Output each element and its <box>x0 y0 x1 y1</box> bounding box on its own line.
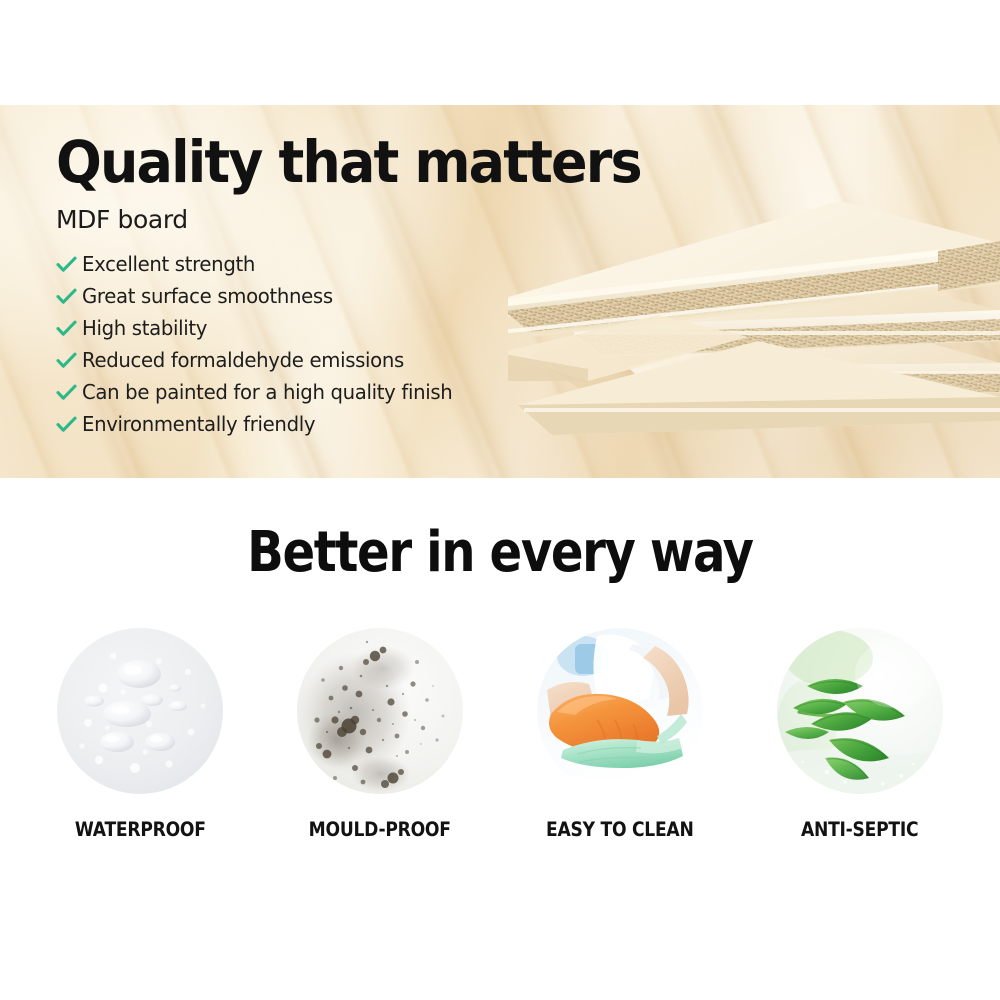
feature-label: MOULD-PROOF <box>309 818 451 841</box>
easy-to-clean-image <box>537 628 703 794</box>
product-marketing-image: Quality that matters MDF board Excellent… <box>0 0 1000 1000</box>
check-icon <box>56 320 82 337</box>
list-item-label: Reduced formaldehyde emissions <box>82 348 404 372</box>
check-icon <box>56 384 82 401</box>
check-icon <box>56 352 82 369</box>
list-item: Can be painted for a high quality finish <box>56 377 696 407</box>
feature-easy-to-clean: EASY TO CLEAN <box>509 628 731 841</box>
list-item-label: High stability <box>82 316 207 340</box>
list-item-label: Excellent strength <box>82 252 255 276</box>
hero-wood-panel: Quality that matters MDF board Excellent… <box>0 105 1000 478</box>
hero-subtitle: MDF board <box>56 205 696 234</box>
feature-label: ANTI-SEPTIC <box>801 818 918 841</box>
list-item-label: Can be painted for a high quality finish <box>82 380 452 404</box>
benefits-section: Better in every way <box>0 478 1000 1000</box>
list-item: Great surface smoothness <box>56 281 696 311</box>
top-white-margin <box>0 0 1000 105</box>
feature-icon-row: WATERPROOF <box>0 628 1000 841</box>
section-title-text: Better in every way <box>247 520 753 585</box>
hero-text-block: Quality that matters MDF board Excellent… <box>56 133 696 441</box>
page-title: Quality that matters <box>56 133 651 191</box>
check-icon <box>56 256 82 273</box>
list-item: Excellent strength <box>56 249 696 279</box>
anti-septic-image <box>777 628 943 794</box>
list-item-label: Environmentally friendly <box>82 412 315 436</box>
feature-bullet-list: Excellent strength Great surface smoothn… <box>56 249 696 439</box>
list-item-label: Great surface smoothness <box>82 284 333 308</box>
check-icon <box>56 288 82 305</box>
list-item: Reduced formaldehyde emissions <box>56 345 696 375</box>
feature-label: WATERPROOF <box>75 818 206 841</box>
feature-label: EASY TO CLEAN <box>546 818 693 841</box>
section-title: Better in every way <box>0 520 1000 585</box>
mould-proof-image <box>297 628 463 794</box>
waterproof-image <box>57 628 223 794</box>
list-item: High stability <box>56 313 696 343</box>
feature-anti-septic: ANTI-SEPTIC <box>749 628 971 841</box>
list-item: Environmentally friendly <box>56 409 696 439</box>
feature-mould-proof: MOULD-PROOF <box>269 628 491 841</box>
check-icon <box>56 416 82 433</box>
feature-waterproof: WATERPROOF <box>29 628 251 841</box>
